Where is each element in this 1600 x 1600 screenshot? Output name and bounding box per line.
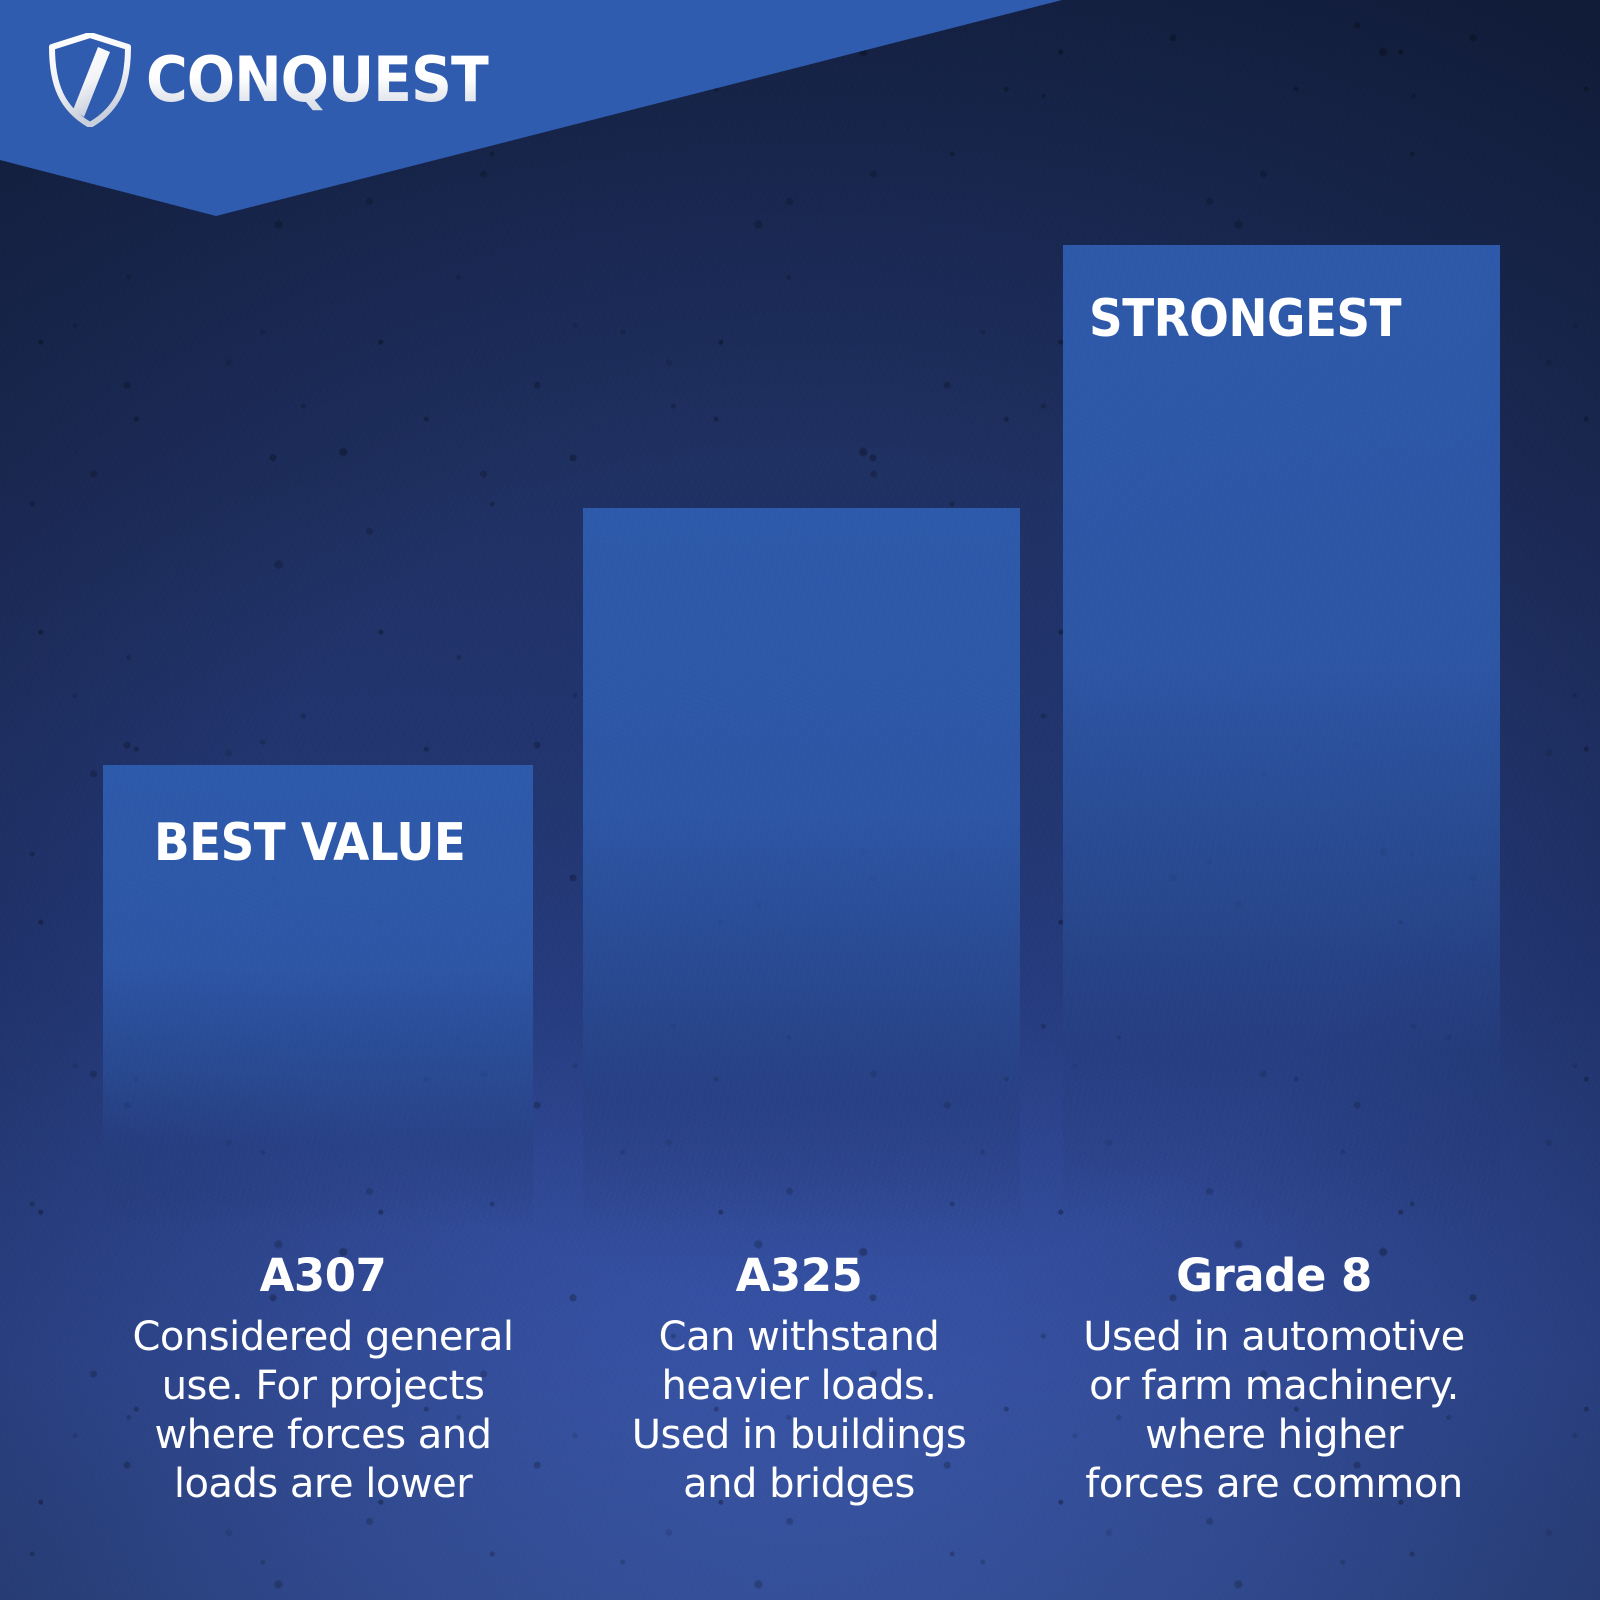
bar-texture <box>583 508 1020 1230</box>
caption-line: where higher <box>1048 1411 1500 1460</box>
caption-title-a307: A307 <box>98 1252 548 1299</box>
bar-a325 <box>583 508 1020 1230</box>
brand-wordmark: CONQUEST <box>146 49 489 111</box>
caption-line: Considered general <box>98 1313 548 1362</box>
caption-title-grade-8: Grade 8 <box>1048 1252 1500 1299</box>
caption-line: Used in buildings <box>578 1411 1020 1460</box>
caption-line: heavier loads. <box>578 1362 1020 1411</box>
caption-line: Used in automotive <box>1048 1313 1500 1362</box>
infographic-canvas: STRONGEST BEST VALUE A307 Considered gen… <box>0 0 1600 1600</box>
caption-line: use. For projects <box>98 1362 548 1411</box>
badge-best-value: BEST VALUE <box>154 817 465 869</box>
caption-line: where forces and <box>98 1411 548 1460</box>
shield-bolt-icon <box>48 33 132 127</box>
caption-title-a325: A325 <box>578 1252 1020 1299</box>
bar-grade-8 <box>1063 245 1500 1230</box>
caption-grade-8: Grade 8 Used in automotive or farm machi… <box>1048 1252 1500 1508</box>
caption-line: forces are common <box>1048 1460 1500 1509</box>
caption-a325: A325 Can withstand heavier loads. Used i… <box>578 1252 1020 1508</box>
caption-line: loads are lower <box>98 1460 548 1509</box>
caption-body-a325: Can withstand heavier loads. Used in bui… <box>578 1313 1020 1508</box>
caption-line: or farm machinery. <box>1048 1362 1500 1411</box>
caption-body-a307: Considered general use. For projects whe… <box>98 1313 548 1508</box>
caption-a307: A307 Considered general use. For project… <box>98 1252 548 1508</box>
badge-strongest: STRONGEST <box>1089 293 1401 345</box>
bar-texture <box>1063 245 1500 1230</box>
caption-body-grade-8: Used in automotive or farm machinery. wh… <box>1048 1313 1500 1508</box>
brand-logo[interactable]: CONQUEST <box>48 33 482 127</box>
caption-line: Can withstand <box>578 1313 1020 1362</box>
caption-line: and bridges <box>578 1460 1020 1509</box>
